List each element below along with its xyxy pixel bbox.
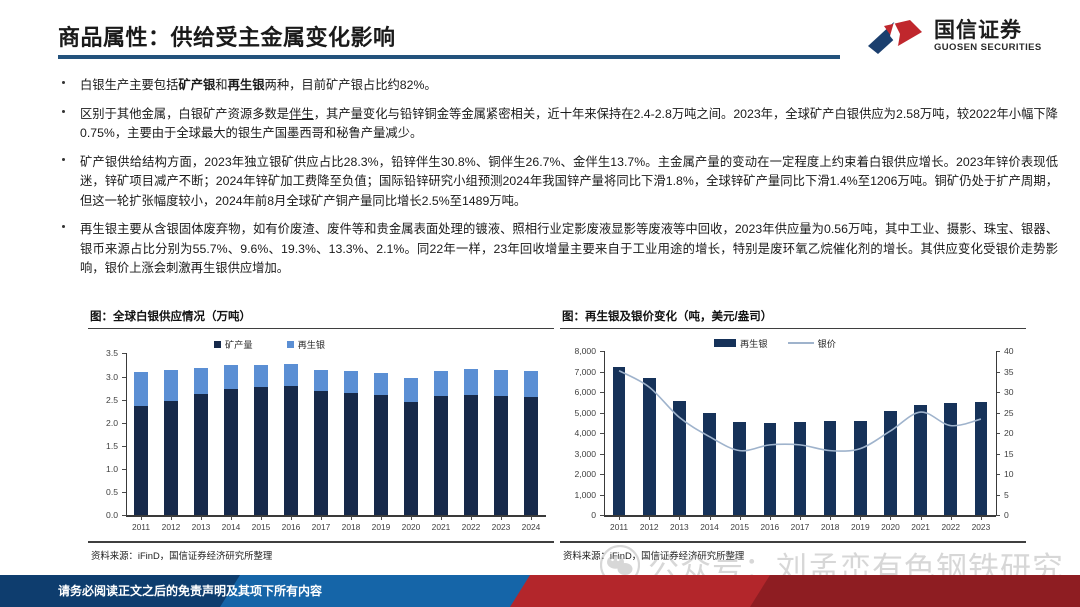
y-axis-left-tick-label: 7,000 — [560, 367, 596, 377]
bar-recycled-silver — [703, 413, 716, 516]
x-axis-tick-label: 2017 — [791, 522, 810, 532]
bar-recycled-silver — [914, 405, 927, 516]
x-axis-tick-mark — [860, 516, 861, 520]
y-axis-right-tick-label: 20 — [1004, 428, 1028, 438]
bar-recycled-silver — [854, 421, 867, 515]
y-axis-tick-label: 2.5 — [88, 395, 118, 405]
x-axis-tick-mark — [531, 516, 532, 520]
y-axis-tick-label: 1.5 — [88, 441, 118, 451]
x-axis-tick-mark — [921, 516, 922, 520]
x-axis-tick-mark — [710, 516, 711, 520]
logo-text-en: GUOSEN SECURITIES — [934, 42, 1042, 53]
x-axis-tick-label: 2019 — [851, 522, 870, 532]
x-axis-tick-label: 2021 — [911, 522, 930, 532]
x-axis-tick-label: 2017 — [312, 522, 331, 532]
legend-swatch — [788, 342, 814, 344]
bar-recycled-silver — [733, 422, 746, 516]
y-axis-tick-label: 0.0 — [88, 510, 118, 520]
x-axis-tick-mark — [619, 516, 620, 520]
bar-recycled-silver — [944, 403, 957, 516]
x-axis-tick-mark — [981, 516, 982, 520]
x-axis-line — [126, 515, 546, 516]
chart-panel-recycled-silver: 图：再生银及银价变化（吨，美元/盎司） 01,0002,0003,0004,00… — [560, 308, 1026, 580]
x-axis-tick-mark — [800, 516, 801, 520]
chart-title: 图：再生银及银价变化（吨，美元/盎司） — [560, 308, 1026, 324]
bullet-item: 再生银主要从含银固体废弃物，如有价废渣、废件等和贵金属表面处理的镀液、照相行业定… — [58, 220, 1058, 279]
y-axis-right-line — [996, 351, 997, 515]
y-axis-right-tick-label: 5 — [1004, 490, 1028, 500]
y-axis-left-tick-label: 8,000 — [560, 346, 596, 356]
x-axis-tick-label: 2016 — [282, 522, 301, 532]
title-underline — [58, 55, 840, 59]
bar-segment-recycled — [164, 370, 177, 401]
y-axis-tick-label: 3.5 — [88, 348, 118, 358]
x-axis-tick-mark — [740, 516, 741, 520]
bar-segment-mined — [374, 395, 387, 515]
bullet-text: 区别于其他金属，白银矿产资源多数是伴生，其产量变化与铅锌铜金等金属紧密相关，近十… — [80, 105, 1058, 144]
x-axis-tick-mark — [351, 516, 352, 520]
bar-recycled-silver — [794, 422, 807, 515]
slide-footer: 请务必阅读正文之后的免责声明及其项下所有内容 — [0, 575, 1080, 607]
chart-area-silver-supply: 0.00.51.01.52.02.53.03.52011201220132014… — [88, 329, 554, 541]
x-axis-tick-mark — [770, 516, 771, 520]
bar-segment-recycled — [194, 368, 207, 394]
footer-disclaimer: 请务必阅读正文之后的免责声明及其项下所有内容 — [58, 575, 322, 607]
y-axis-left-tick-label: 5,000 — [560, 408, 596, 418]
bar-segment-recycled — [464, 369, 477, 395]
page-title: 商品属性：供给受主金属变化影响 — [58, 20, 396, 52]
y-axis-right-tick-label: 15 — [1004, 449, 1028, 459]
y-axis-right-tick-label: 35 — [1004, 367, 1028, 377]
y-axis-tick-label: 3.0 — [88, 372, 118, 382]
x-axis-tick-mark — [441, 516, 442, 520]
legend-label: 再生银 — [740, 336, 768, 350]
x-axis-tick-label: 2023 — [972, 522, 991, 532]
x-axis-tick-label: 2018 — [821, 522, 840, 532]
legend-item: 银价 — [788, 336, 836, 350]
legend-swatch — [714, 339, 736, 347]
x-axis-tick-mark — [890, 516, 891, 520]
chart-panel-silver-supply: 图：全球白银供应情况（万吨） 0.00.51.01.52.02.53.03.52… — [88, 308, 554, 580]
bar-segment-recycled — [254, 365, 267, 386]
x-axis-tick-mark — [411, 516, 412, 520]
x-axis-tick-mark — [201, 516, 202, 520]
x-axis-tick-label: 2013 — [670, 522, 689, 532]
bar-segment-mined — [134, 406, 147, 515]
bar-segment-recycled — [284, 364, 297, 386]
bullet-text: 矿产银供给结构方面，2023年独立银矿供应占比28.3%，铅锌伴生30.8%、铜… — [80, 153, 1058, 212]
bar-segment-recycled — [494, 370, 507, 396]
y-axis-left-tick-label: 1,000 — [560, 490, 596, 500]
chart-area-recycled-silver: 01,0002,0003,0004,0005,0006,0007,0008,00… — [560, 329, 1026, 541]
bar-recycled-silver — [613, 367, 626, 516]
body-bullets: 白银生产主要包括矿产银和再生银两种，目前矿产银占比约82%。 区别于其他金属，白… — [58, 76, 1058, 288]
x-axis-tick-mark — [321, 516, 322, 520]
x-axis-tick-label: 2020 — [881, 522, 900, 532]
bar-recycled-silver — [764, 423, 777, 516]
chart-source: 资料来源：iFinD，国信证券经济研究所整理 — [88, 543, 554, 562]
bullet-text: 白银生产主要包括矿产银和再生银两种，目前矿产银占比约82%。 — [80, 76, 1058, 96]
bar-segment-mined — [314, 391, 327, 515]
bar-segment-mined — [404, 402, 417, 515]
x-axis-tick-label: 2022 — [462, 522, 481, 532]
bar-segment-recycled — [524, 371, 537, 397]
chart-title: 图：全球白银供应情况（万吨） — [88, 308, 554, 324]
bullet-item: 区别于其他金属，白银矿产资源多数是伴生，其产量变化与铅锌铜金等金属紧密相关，近十… — [58, 105, 1058, 144]
bar-recycled-silver — [673, 401, 686, 516]
x-axis-tick-label: 2016 — [761, 522, 780, 532]
x-axis-tick-mark — [830, 516, 831, 520]
bar-segment-recycled — [404, 378, 417, 402]
bar-segment-recycled — [434, 371, 447, 396]
legend-label: 矿产量 — [225, 337, 253, 351]
y-axis-right-tick-label: 40 — [1004, 346, 1028, 356]
x-axis-tick-label: 2011 — [132, 522, 150, 532]
x-axis-tick-label: 2015 — [252, 522, 271, 532]
y-axis-right-tick-label: 25 — [1004, 408, 1028, 418]
y-axis-left-line — [604, 351, 605, 515]
x-axis-tick-label: 2019 — [372, 522, 391, 532]
x-axis-tick-mark — [141, 516, 142, 520]
bar-segment-mined — [164, 401, 177, 515]
x-axis-tick-mark — [231, 516, 232, 520]
x-axis-tick-label: 2012 — [640, 522, 659, 532]
x-axis-tick-label: 2011 — [610, 522, 628, 532]
x-axis-tick-mark — [501, 516, 502, 520]
bar-segment-mined — [254, 387, 267, 516]
bar-segment-recycled — [224, 365, 237, 389]
legend-item: 再生银 — [714, 336, 768, 350]
slide-header: 商品属性：供给受主金属变化影响 国信证券 GUOSEN SECURITIES — [0, 0, 1080, 66]
logo-mark-icon — [864, 16, 926, 58]
logo-text-cn: 国信证券 — [934, 14, 1022, 44]
bullet-text: 再生银主要从含银固体废弃物，如有价废渣、废件等和贵金属表面处理的镀液、照相行业定… — [80, 220, 1058, 279]
slide: 商品属性：供给受主金属变化影响 国信证券 GUOSEN SECURITIES 白… — [0, 0, 1080, 607]
bullet-dot-icon — [62, 225, 65, 228]
bar-segment-recycled — [374, 373, 387, 395]
y-axis-left-tick-label: 4,000 — [560, 428, 596, 438]
x-axis-tick-mark — [381, 516, 382, 520]
bar-segment-mined — [494, 396, 507, 515]
y-axis-left-tick-label: 0 — [560, 510, 596, 520]
x-axis-tick-label: 2014 — [700, 522, 719, 532]
legend-swatch — [287, 341, 294, 348]
bar-segment-mined — [464, 395, 477, 515]
x-axis-tick-label: 2014 — [222, 522, 241, 532]
x-axis-tick-label: 2021 — [432, 522, 451, 532]
legend-item: 再生银 — [287, 337, 326, 351]
y-axis-tick-label: 2.0 — [88, 418, 118, 428]
x-axis-tick-label: 2015 — [730, 522, 749, 532]
bar-recycled-silver — [643, 378, 656, 516]
legend-item: 矿产量 — [214, 337, 253, 351]
x-axis-tick-label: 2024 — [522, 522, 541, 532]
bar-recycled-silver — [824, 421, 837, 516]
x-axis-tick-mark — [471, 516, 472, 520]
bar-segment-mined — [344, 393, 357, 515]
y-axis-left-tick-label: 6,000 — [560, 387, 596, 397]
bar-recycled-silver — [975, 402, 988, 516]
y-axis-right-tick-label: 0 — [1004, 510, 1028, 520]
bullet-item: 矿产银供给结构方面，2023年独立银矿供应占比28.3%，铅锌伴生30.8%、铜… — [58, 153, 1058, 212]
x-axis-tick-mark — [171, 516, 172, 520]
legend-label: 再生银 — [298, 337, 326, 351]
bar-segment-recycled — [134, 372, 147, 406]
bar-segment-mined — [524, 397, 537, 515]
bullet-item: 白银生产主要包括矿产银和再生银两种，目前矿产银占比约82%。 — [58, 76, 1058, 96]
x-axis-tick-mark — [951, 516, 952, 520]
legend-swatch — [214, 341, 221, 348]
bar-recycled-silver — [884, 411, 897, 516]
x-axis-tick-mark — [649, 516, 650, 520]
x-axis-tick-mark — [291, 516, 292, 520]
y-axis-right-tick-label: 10 — [1004, 469, 1028, 479]
x-axis-tick-label: 2020 — [402, 522, 421, 532]
legend-label: 银价 — [818, 336, 836, 350]
chart-legend: 再生银银价 — [714, 336, 836, 350]
bar-segment-recycled — [314, 370, 327, 392]
bar-segment-mined — [194, 394, 207, 515]
y-axis-right-tick-label: 30 — [1004, 387, 1028, 397]
bar-segment-recycled — [344, 371, 357, 393]
y-axis-left-tick-label: 2,000 — [560, 469, 596, 479]
chart-legend: 矿产量再生银 — [214, 337, 325, 351]
bar-segment-mined — [284, 386, 297, 515]
x-axis-tick-label: 2012 — [162, 522, 181, 532]
footer-shape — [750, 575, 1080, 607]
bar-segment-mined — [224, 389, 237, 515]
x-axis-tick-label: 2018 — [342, 522, 361, 532]
bullet-dot-icon — [62, 158, 65, 161]
y-axis-tick-label: 1.0 — [88, 464, 118, 474]
x-axis-tick-mark — [679, 516, 680, 520]
y-axis-right-tick-mark — [996, 515, 1000, 516]
chart-source: 资料来源：iFinD，国信证券经济研究所整理 — [560, 543, 1026, 562]
bar-segment-mined — [434, 396, 447, 515]
x-axis-tick-label: 2013 — [192, 522, 211, 532]
x-axis-tick-label: 2022 — [941, 522, 960, 532]
x-axis-tick-mark — [261, 516, 262, 520]
y-axis-left-tick-label: 3,000 — [560, 449, 596, 459]
bullet-dot-icon — [62, 81, 65, 84]
x-axis-tick-label: 2023 — [492, 522, 511, 532]
y-axis-line — [126, 353, 127, 515]
y-axis-tick-label: 0.5 — [88, 487, 118, 497]
guosen-logo: 国信证券 GUOSEN SECURITIES — [864, 14, 1050, 60]
bullet-dot-icon — [62, 110, 65, 113]
